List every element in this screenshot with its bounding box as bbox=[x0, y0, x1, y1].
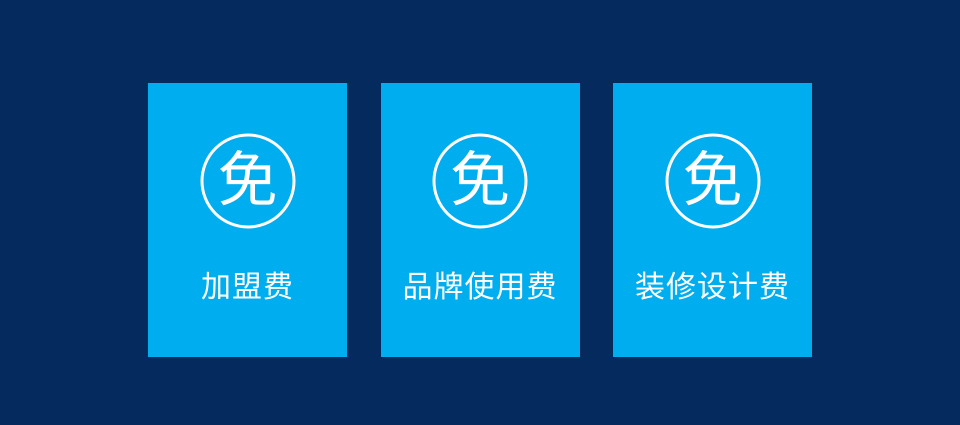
benefit-card-zhuangxiusheji[interactable]: 免 装修设计费 bbox=[613, 83, 812, 357]
benefit-card-row: 免 加盟费 免 品牌使用费 免 装修设计费 bbox=[148, 83, 812, 357]
benefit-card-jiamengfei[interactable]: 免 加盟费 bbox=[148, 83, 347, 357]
free-circle-icon: 免 bbox=[432, 133, 528, 229]
free-character-glyph: 免 bbox=[432, 133, 528, 229]
benefit-card-pinpaishiyongfei[interactable]: 免 品牌使用费 bbox=[381, 83, 580, 357]
benefit-card-label: 加盟费 bbox=[201, 271, 294, 305]
free-circle-icon: 免 bbox=[665, 133, 761, 229]
free-circle-icon: 免 bbox=[200, 133, 296, 229]
free-character-glyph: 免 bbox=[665, 133, 761, 229]
promo-banner: 免 加盟费 免 品牌使用费 免 装修设计费 bbox=[0, 0, 960, 425]
benefit-card-label: 装修设计费 bbox=[635, 271, 790, 305]
free-character-glyph: 免 bbox=[200, 133, 296, 229]
benefit-card-label: 品牌使用费 bbox=[403, 271, 558, 305]
